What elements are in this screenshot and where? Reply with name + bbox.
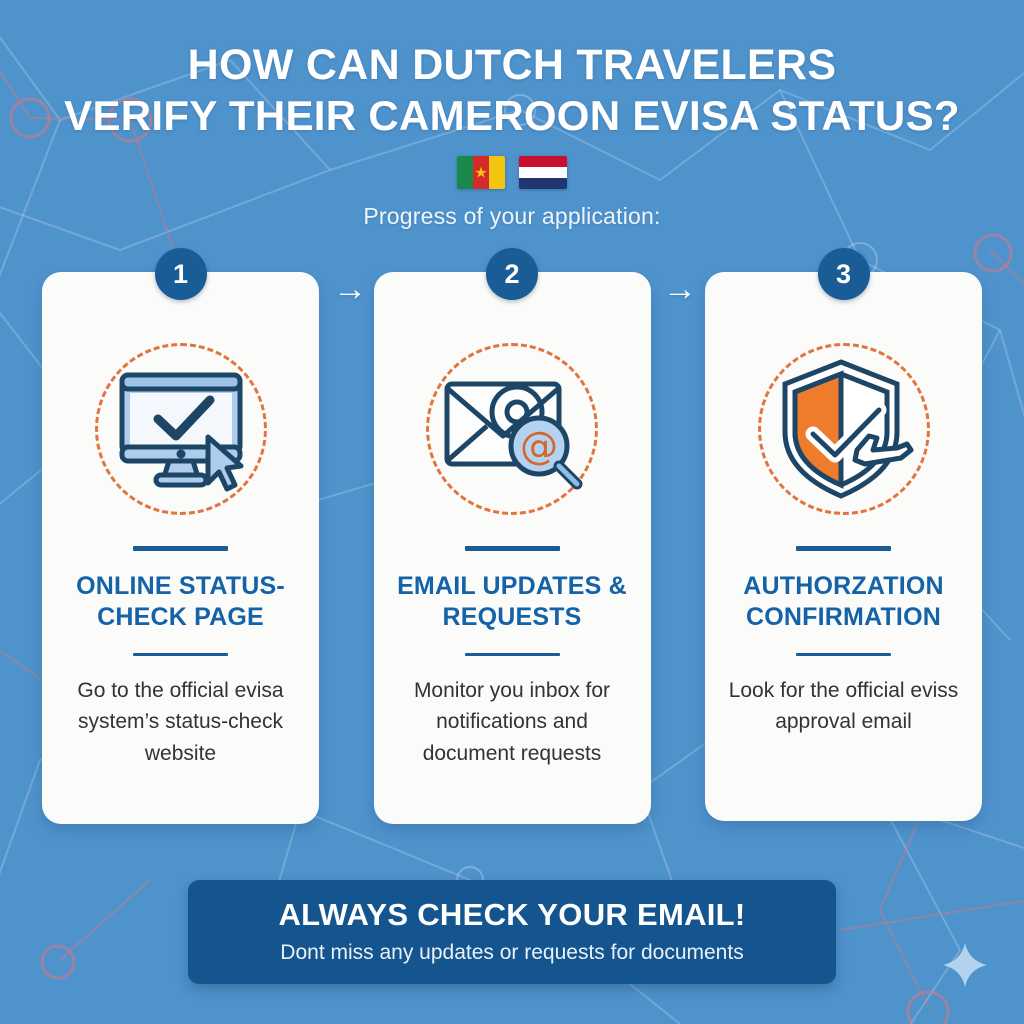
four-point-star-icon (941, 941, 989, 989)
divider-top-2 (465, 546, 560, 551)
arrow-right-icon-1: → (328, 272, 372, 306)
step-number-badge-1: 1 (155, 248, 207, 300)
page-title: HOW CAN DUTCH TRAVELERS VERIFY THEIR CAM… (0, 40, 1024, 140)
shield-check-airplane-icon (769, 354, 919, 504)
title-line-2: VERIFY THEIR CAMEROON EVISA STATUS? (40, 91, 984, 141)
step-icon-1-wrapper (86, 334, 276, 524)
subtitle: Progress of your application: (0, 203, 1024, 230)
divider-mid-3 (796, 653, 891, 656)
step-title-1: ONLINE STATUS-CHECK PAGE (60, 571, 301, 634)
infographic-poster: HOW CAN DUTCH TRAVELERS VERIFY THEIR CAM… (0, 0, 1024, 1024)
flag-band-blue (519, 178, 567, 189)
banner-title: ALWAYS CHECK YOUR EMAIL! (208, 897, 816, 933)
flag-band-red (519, 156, 567, 167)
steps-row: 1 ONLINE STAT (42, 272, 982, 824)
step-description-1: Go to the official evisa system’s status… (60, 675, 301, 770)
step-title-2: EMAIL UPDATES & REQUESTS (392, 571, 633, 634)
step-number-badge-2: 2 (486, 248, 538, 300)
step-description-2: Monitor you inbox for notifications and … (392, 675, 633, 770)
cameroon-star-icon: ★ (474, 165, 487, 180)
divider-mid-1 (133, 653, 228, 656)
flag-band-red: ★ (473, 156, 489, 189)
arrow-right-icon-2: → (658, 272, 702, 306)
step-card-1[interactable]: 1 ONLINE STAT (42, 272, 319, 824)
step-slot-2: 2 @ (374, 272, 651, 824)
divider-mid-2 (465, 653, 560, 656)
banner-subtitle: Dont miss any updates or requests for do… (208, 940, 816, 965)
call-to-action-banner[interactable]: ALWAYS CHECK YOUR EMAIL! Dont miss any u… (188, 880, 836, 984)
svg-text:@: @ (520, 424, 558, 468)
flag-row: ★ (0, 156, 1024, 189)
step-card-3[interactable]: 3 AUTHORZATION CONFIRMATION (705, 272, 982, 821)
netherlands-flag-icon (519, 156, 567, 189)
flag-band-white (519, 167, 567, 178)
step-icon-2-wrapper: @ (417, 334, 607, 524)
step-description-3: Look for the official eviss approval ema… (723, 675, 964, 738)
step-slot-3: 3 AUTHORZATION CONFIRMATION (705, 272, 982, 821)
flag-band-yellow (489, 156, 505, 189)
divider-top-1 (133, 546, 228, 551)
step-title-3: AUTHORZATION CONFIRMATION (723, 571, 964, 634)
monitor-check-cursor-icon (106, 359, 256, 499)
step-number-badge-3: 3 (818, 248, 870, 300)
step-icon-3-wrapper (749, 334, 939, 524)
step-slot-1: 1 ONLINE STAT (42, 272, 319, 824)
envelope-at-magnifier-icon: @ (435, 362, 590, 497)
step-card-2[interactable]: 2 @ (374, 272, 651, 824)
cameroon-flag-icon: ★ (457, 156, 505, 189)
header: HOW CAN DUTCH TRAVELERS VERIFY THEIR CAM… (0, 40, 1024, 230)
flag-band-green (457, 156, 473, 189)
title-line-1: HOW CAN DUTCH TRAVELERS (40, 40, 984, 91)
divider-top-3 (796, 546, 891, 551)
